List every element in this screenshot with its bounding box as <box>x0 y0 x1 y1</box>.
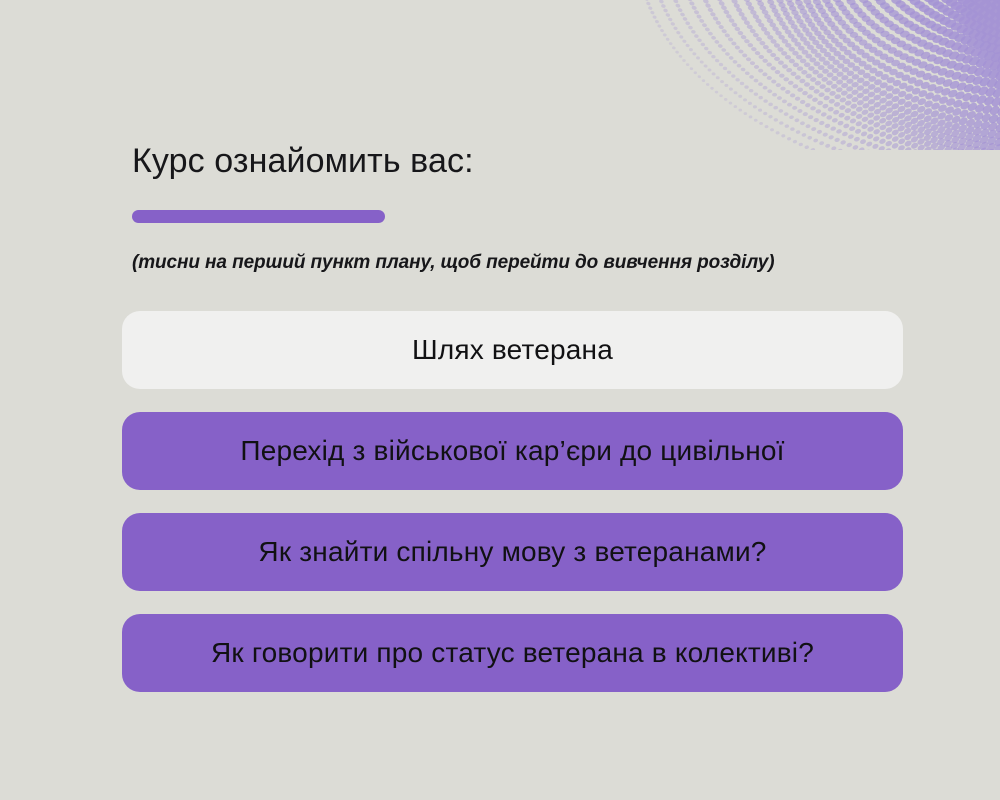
page-subtitle-hint: (тисни на перший пункт плану, щоб перейт… <box>132 252 774 274</box>
plan-item-label: Шлях ветерана <box>388 333 637 367</box>
plan-item-label: Перехід з військової кар’єри до цивільно… <box>216 434 808 468</box>
plan-item-1[interactable]: Шлях ветерана <box>122 311 903 389</box>
plan-item-label: Як знайти спільну мову з ветеранами? <box>234 535 790 569</box>
plan-item-2[interactable]: Перехід з військової кар’єри до цивільно… <box>122 412 903 490</box>
plan-list: Шлях ветерана Перехід з військової кар’є… <box>122 311 903 692</box>
plan-item-label: Як говорити про статус ветерана в колект… <box>187 636 838 670</box>
plan-item-3[interactable]: Як знайти спільну мову з ветеранами? <box>122 513 903 591</box>
page-title: Курс ознайомить вас: <box>132 140 912 182</box>
halftone-wave-decoration <box>480 0 1000 150</box>
plan-item-4[interactable]: Як говорити про статус ветерана в колект… <box>122 614 903 692</box>
title-underline-accent <box>132 210 385 223</box>
heading-block: Курс ознайомить вас: <box>132 140 912 223</box>
halftone-wave-icon <box>480 0 1000 150</box>
slide-canvas: Курс ознайомить вас: (тисни на перший пу… <box>0 0 1000 800</box>
